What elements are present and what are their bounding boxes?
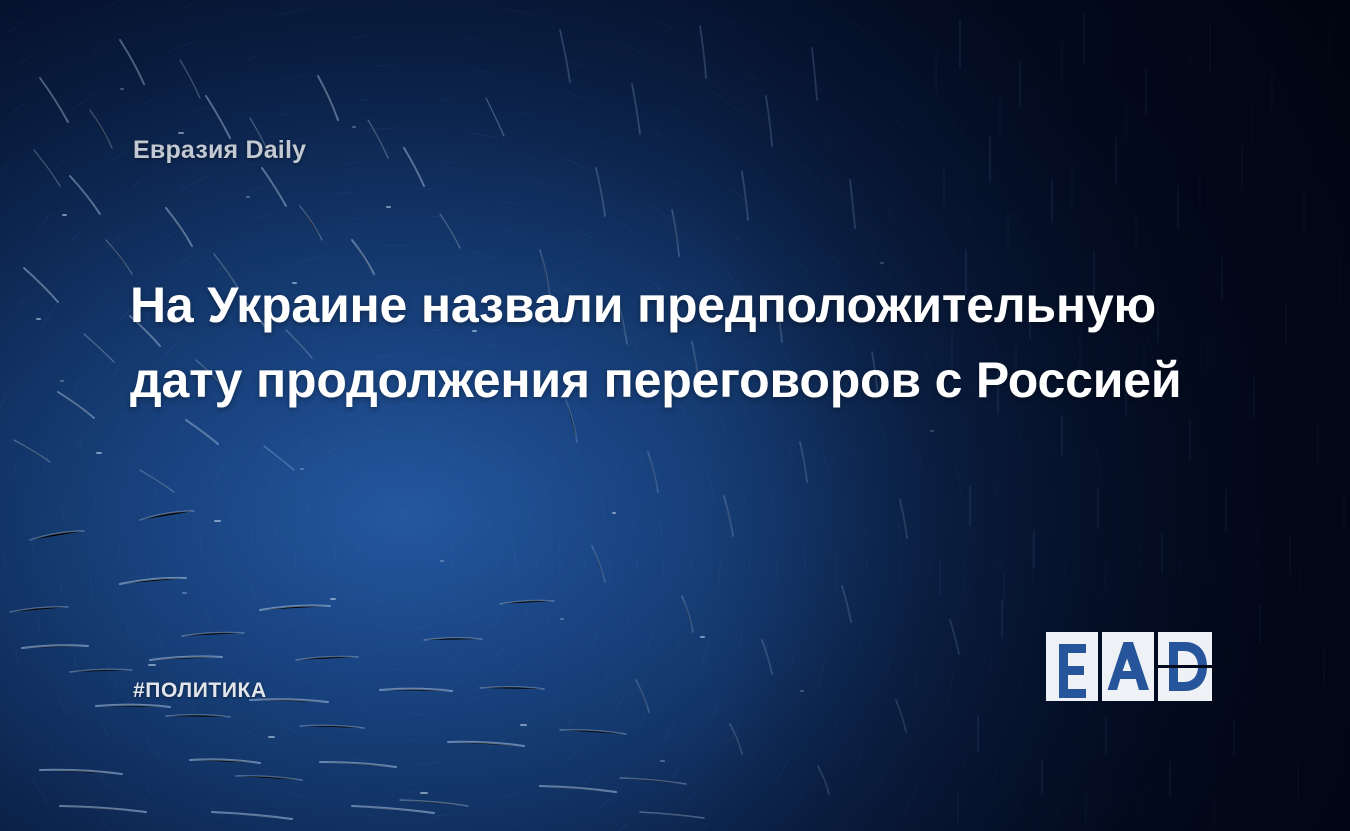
logo-tile-d (1158, 632, 1212, 701)
logo-tile-e (1046, 632, 1098, 701)
eadaily-logo[interactable] (1046, 632, 1212, 701)
letter-e-icon (1046, 632, 1098, 701)
card-content: Евразия Daily На Украине назвали предпол… (0, 0, 1350, 831)
letter-d-bottom-half (1158, 668, 1212, 701)
news-card: Евразия Daily На Украине назвали предпол… (0, 0, 1350, 831)
page-title: На Украине назвали предположительную дат… (130, 268, 1240, 418)
category-hashtag[interactable]: #ПОЛИТИКА (133, 679, 267, 703)
letter-d-icon (1158, 632, 1212, 665)
logo-tile-a (1102, 632, 1154, 701)
brand-label: Евразия Daily (133, 136, 306, 165)
letter-d-top-half (1158, 632, 1212, 665)
letter-a-icon (1102, 632, 1154, 701)
letter-d-icon (1158, 668, 1212, 701)
